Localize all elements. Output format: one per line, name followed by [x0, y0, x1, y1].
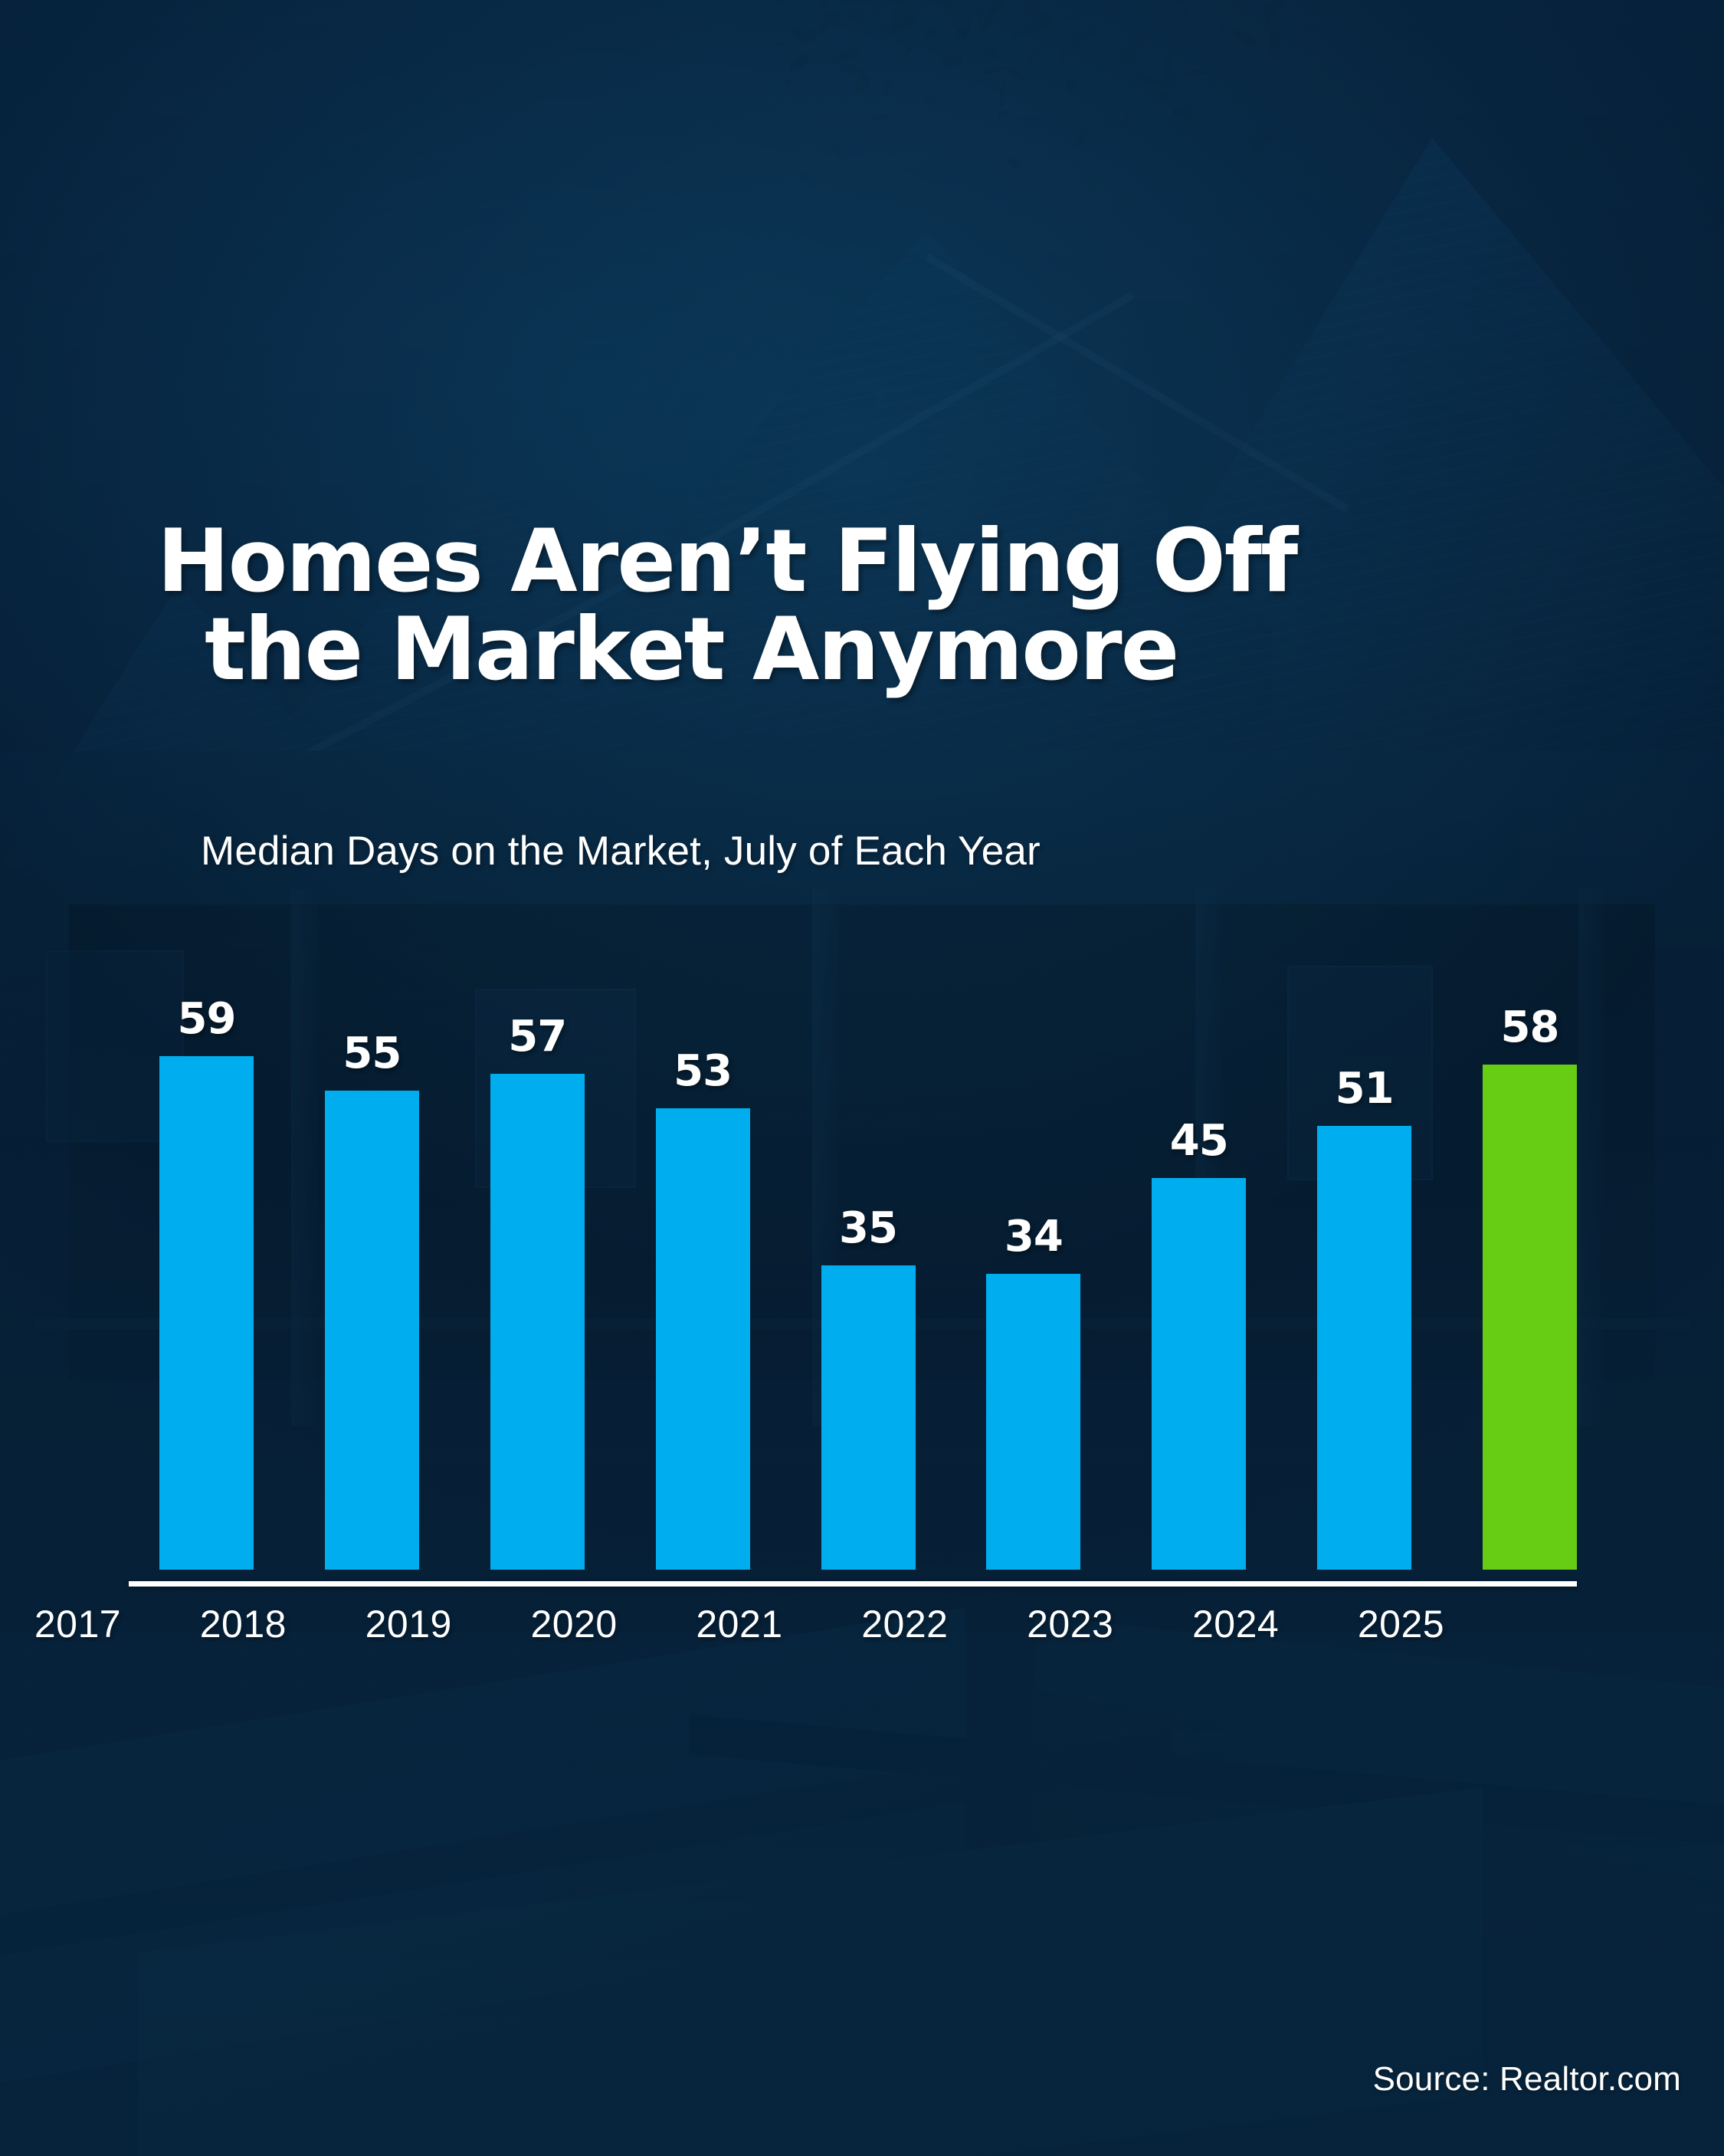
bar-value-label: 55 [343, 1029, 401, 1078]
bar-group-2024[interactable]: 51 [1317, 996, 1411, 1570]
bar-group-2022[interactable]: 34 [986, 996, 1080, 1570]
source-attribution: Source: Realtor.com [1373, 2060, 1681, 2099]
bar-2023[interactable] [1152, 1178, 1246, 1570]
bar-group-2021[interactable]: 35 [821, 996, 916, 1570]
bar-2021[interactable] [821, 1265, 916, 1570]
bar-group-2025[interactable]: 58 [1483, 996, 1577, 1570]
page-title: Homes Aren’t Flying Off the Market Anymo… [157, 517, 1613, 694]
bar-2019[interactable] [490, 1074, 585, 1570]
bar-value-label: 59 [178, 994, 236, 1044]
bar-value-label: 35 [839, 1203, 897, 1253]
bar-value-label: 45 [1170, 1116, 1228, 1166]
bar-value-label: 57 [508, 1012, 566, 1062]
bar-group-2018[interactable]: 55 [325, 996, 419, 1570]
x-axis-label-2023: 2023 [1023, 1602, 1117, 1646]
bar-group-2020[interactable]: 53 [656, 996, 750, 1570]
chart-plot-area: 595557533534455158 [159, 996, 1577, 1570]
bar-2018[interactable] [325, 1091, 419, 1570]
infographic-canvas: Homes Aren’t Flying Off the Market Anymo… [0, 0, 1724, 2156]
bar-value-label: 51 [1336, 1064, 1394, 1114]
x-axis-label-2025: 2025 [1354, 1602, 1448, 1646]
x-axis-line [129, 1581, 1577, 1587]
x-axis-label-2019: 2019 [362, 1602, 456, 1646]
bar-2024[interactable] [1317, 1126, 1411, 1570]
x-axis-label-2017: 2017 [31, 1602, 125, 1646]
bar-group-2023[interactable]: 45 [1152, 996, 1246, 1570]
x-axis-label-2022: 2022 [857, 1602, 952, 1646]
title-line-2: the Market Anymore [157, 605, 1613, 694]
x-axis-label-2021: 2021 [693, 1602, 787, 1646]
bar-value-label: 53 [674, 1046, 732, 1096]
bar-2020[interactable] [656, 1108, 750, 1570]
bar-2025[interactable] [1483, 1065, 1577, 1570]
bar-group-2017[interactable]: 59 [159, 996, 254, 1570]
x-axis-label-2020: 2020 [527, 1602, 621, 1646]
infographic-content: Homes Aren’t Flying Off the Market Anymo… [0, 0, 1724, 2156]
x-axis-label-2018: 2018 [196, 1602, 290, 1646]
bar-group-2019[interactable]: 57 [490, 996, 585, 1570]
x-axis-labels: 201720182019202020212022202320242025 [31, 1602, 1448, 1646]
bar-value-label: 34 [1005, 1212, 1063, 1262]
page-subtitle: Median Days on the Market, July of Each … [201, 828, 1041, 875]
x-axis-label-2024: 2024 [1188, 1602, 1283, 1646]
bar-2022[interactable] [986, 1274, 1080, 1570]
bar-2017[interactable] [159, 1056, 254, 1570]
title-line-1: Homes Aren’t Flying Off [157, 517, 1613, 605]
bar-series: 595557533534455158 [159, 996, 1577, 1570]
bar-value-label: 58 [1501, 1003, 1559, 1052]
bar-chart: 595557533534455158 [129, 996, 1577, 1579]
